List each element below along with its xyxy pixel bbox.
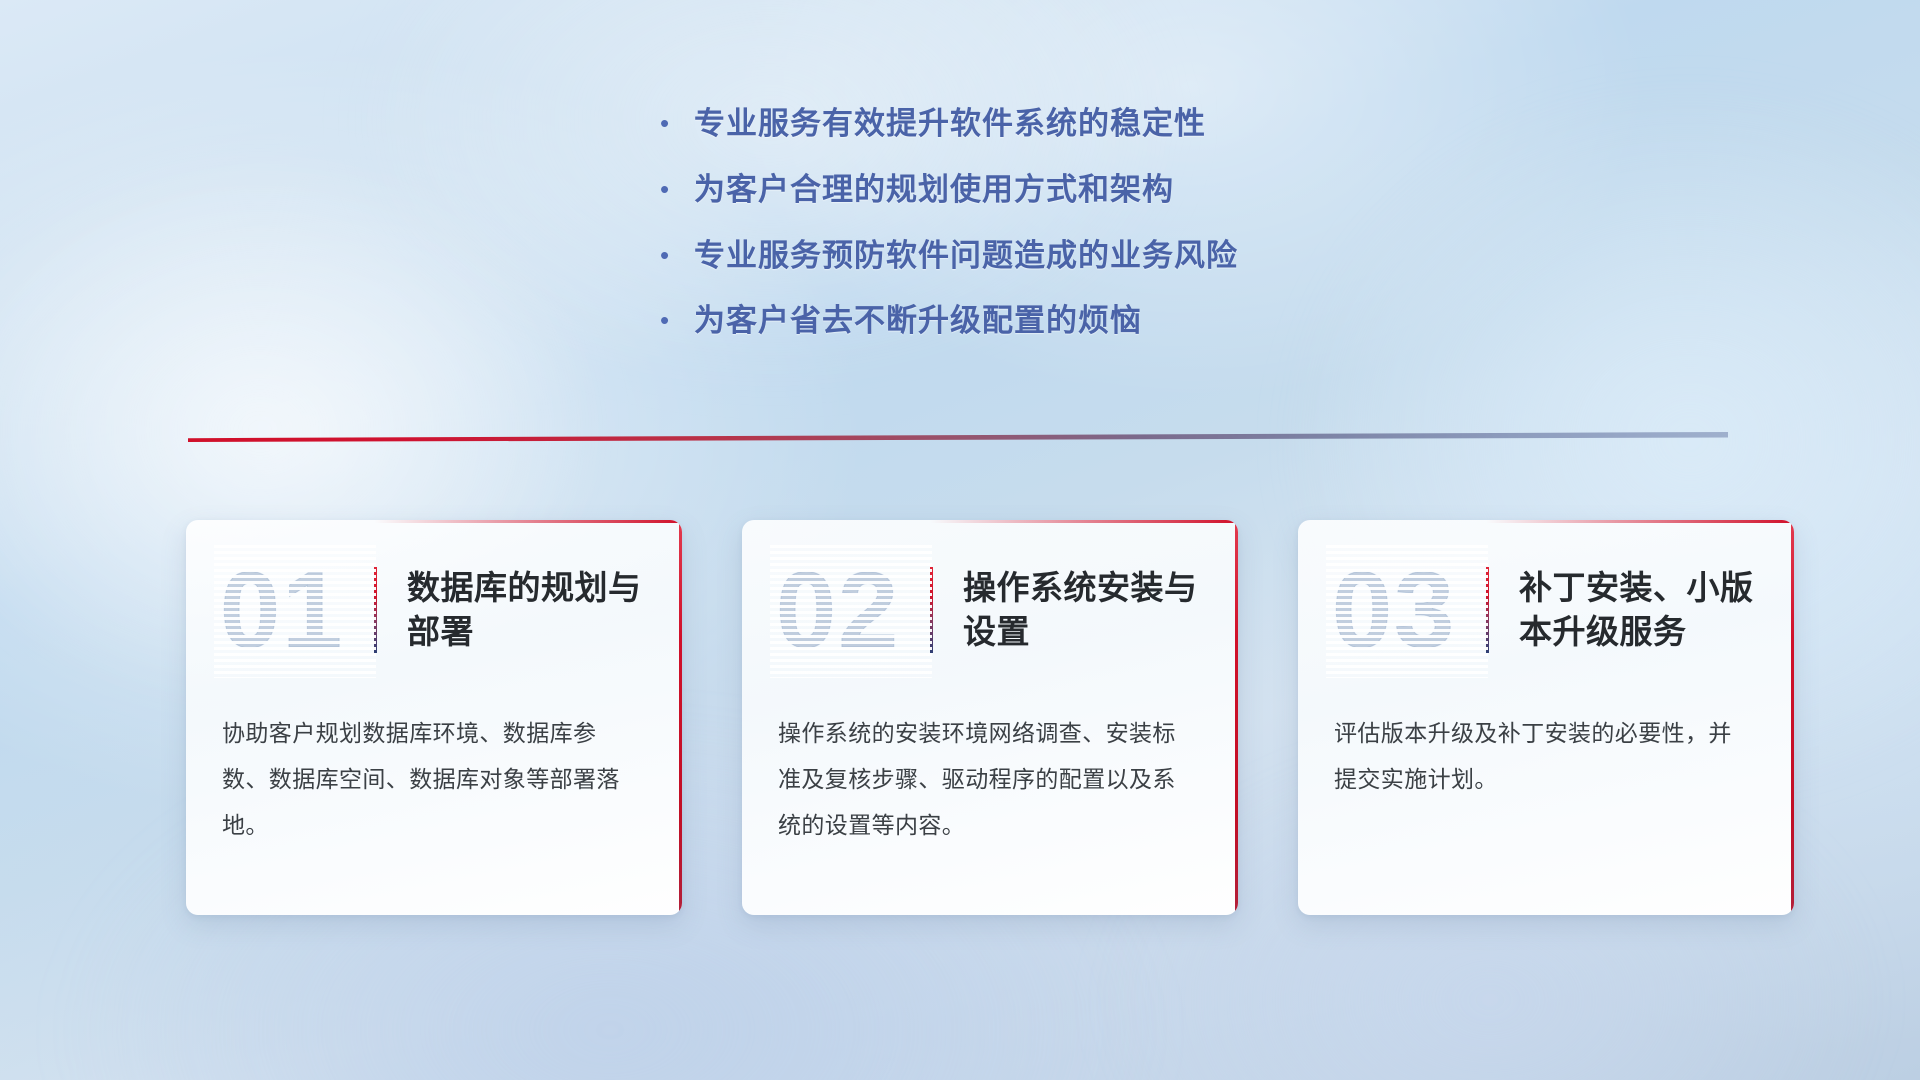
card-title: 操作系统安装与设置 (963, 566, 1238, 653)
card-description: 操作系统的安装环境网络调查、安装标准及复核步骤、驱动程序的配置以及系统的设置等内… (742, 700, 1238, 848)
benefits-bullet-list: • 专业服务有效提升软件系统的稳定性 • 为客户合理的规划使用方式和架构 • 专… (660, 105, 1480, 368)
bullet-item-label: 为客户省去不断升级配置的烦恼 (694, 302, 1142, 341)
card-header: 01 数据库的规划与部署 (186, 520, 682, 700)
card-vertical-rule (374, 567, 377, 653)
bullet-item: • 专业服务有效提升软件系统的稳定性 (660, 105, 1480, 144)
bullet-dot-icon: • (660, 110, 694, 136)
bullet-item-label: 专业服务有效提升软件系统的稳定性 (694, 105, 1206, 144)
slide-canvas: • 专业服务有效提升软件系统的稳定性 • 为客户合理的规划使用方式和架构 • 专… (0, 0, 1920, 1080)
bullet-dot-icon: • (660, 176, 694, 202)
service-card-group: 01 数据库的规划与部署 协助客户规划数据库环境、数据库参数、数据库空间、数据库… (0, 520, 1920, 940)
card-description: 协助客户规划数据库环境、数据库参数、数据库空间、数据库对象等部署落地。 (186, 700, 682, 848)
card-header: 03 补丁安装、小版本升级服务 (1298, 520, 1794, 700)
card-description: 评估版本升级及补丁安装的必要性，并提交实施计划。 (1298, 700, 1794, 802)
service-card[interactable]: 03 补丁安装、小版本升级服务 评估版本升级及补丁安装的必要性，并提交实施计划。 (1298, 520, 1794, 915)
service-card[interactable]: 02 操作系统安装与设置 操作系统的安装环境网络调查、安装标准及复核步骤、驱动程… (742, 520, 1238, 915)
bullet-item: • 为客户省去不断升级配置的烦恼 (660, 302, 1480, 341)
bullet-dot-icon: • (660, 307, 694, 333)
divider-gradient-bar (188, 432, 1728, 442)
section-divider (188, 432, 1728, 442)
card-number: 03 (1332, 556, 1482, 664)
card-number: 01 (220, 556, 370, 664)
bullet-item: • 专业服务预防软件问题造成的业务风险 (660, 237, 1480, 276)
card-vertical-rule (1486, 567, 1489, 653)
service-card[interactable]: 01 数据库的规划与部署 协助客户规划数据库环境、数据库参数、数据库空间、数据库… (186, 520, 682, 915)
card-title: 数据库的规划与部署 (407, 566, 682, 653)
bullet-item-label: 专业服务预防软件问题造成的业务风险 (694, 237, 1238, 276)
bullet-item-label: 为客户合理的规划使用方式和架构 (694, 171, 1174, 210)
card-header: 02 操作系统安装与设置 (742, 520, 1238, 700)
bullet-item: • 为客户合理的规划使用方式和架构 (660, 171, 1480, 210)
bullet-dot-icon: • (660, 242, 694, 268)
card-number: 02 (776, 556, 926, 664)
card-vertical-rule (930, 567, 933, 653)
card-title: 补丁安装、小版本升级服务 (1519, 566, 1794, 653)
